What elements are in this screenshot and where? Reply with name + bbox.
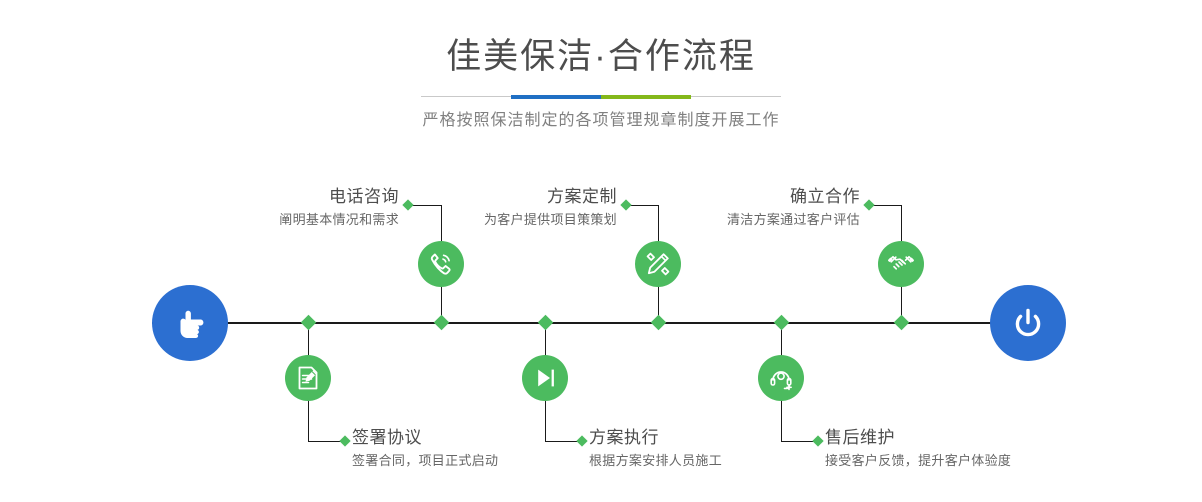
step-desc-4: 根据方案安排人员施工	[589, 450, 849, 472]
timeline-axis	[152, 322, 1050, 324]
step-label-5: 确立合作 清洁方案通过客户评估	[615, 185, 860, 231]
step-label-6: 售后维护 接受客户反馈，提升客户体验度	[825, 426, 1125, 472]
step-desc-2: 签署合同，项目正式启动	[352, 450, 612, 472]
play-to-end-icon	[531, 364, 559, 392]
step-title-5: 确立合作	[615, 185, 860, 209]
header: 佳美保洁·合作流程	[0, 34, 1202, 80]
handshake-icon	[886, 249, 916, 279]
process-flow-infographic: 佳美保洁·合作流程 严格按照保洁制定的各项管理规章制度开展工作	[0, 0, 1202, 502]
label-tip-5	[863, 199, 874, 210]
support-agent-add-icon	[767, 364, 795, 392]
step-icon-plan	[635, 241, 681, 287]
step-label-4: 方案执行 根据方案安排人员施工	[589, 426, 849, 472]
step-title-4: 方案执行	[589, 426, 849, 450]
label-tip-2	[339, 435, 350, 446]
axis-diamond-6	[774, 315, 790, 331]
step-desc-3: 为客户提供项目策策划	[372, 209, 617, 231]
axis-diamond-1	[434, 315, 450, 331]
document-edit-icon	[294, 364, 322, 392]
step-title-6: 售后维护	[825, 426, 1125, 450]
axis-diamond-2	[301, 315, 317, 331]
step-desc-1: 阐明基本情况和需求	[154, 209, 399, 231]
power-icon	[1006, 301, 1050, 345]
step-title-2: 签署协议	[352, 426, 612, 450]
divider-segment-blue	[511, 95, 601, 99]
step-icon-execute	[522, 355, 568, 401]
hand-pointing-icon	[168, 301, 212, 345]
pencil-ruler-icon	[643, 249, 673, 279]
page-subtitle: 严格按照保洁制定的各项管理规章制度开展工作	[0, 106, 1202, 130]
step-icon-document	[285, 355, 331, 401]
divider-segment-green	[601, 95, 691, 99]
step-label-1: 电话咨询 阐明基本情况和需求	[154, 185, 399, 231]
step-icon-support	[758, 355, 804, 401]
phone-call-icon	[426, 249, 456, 279]
axis-diamond-3	[651, 315, 667, 331]
axis-diamond-5	[894, 315, 910, 331]
step-desc-5: 清洁方案通过客户评估	[615, 209, 860, 231]
step-icon-handshake	[878, 241, 924, 287]
flow-start-marker	[152, 285, 228, 361]
step-label-2: 签署协议 签署合同，项目正式启动	[352, 426, 612, 472]
step-title-1: 电话咨询	[154, 185, 399, 209]
flow-end-marker	[990, 285, 1066, 361]
title-divider	[421, 95, 781, 99]
page-title: 佳美保洁·合作流程	[0, 34, 1202, 80]
step-desc-6: 接受客户反馈，提升客户体验度	[825, 450, 1125, 472]
axis-diamond-4	[538, 315, 554, 331]
step-icon-phone	[418, 241, 464, 287]
